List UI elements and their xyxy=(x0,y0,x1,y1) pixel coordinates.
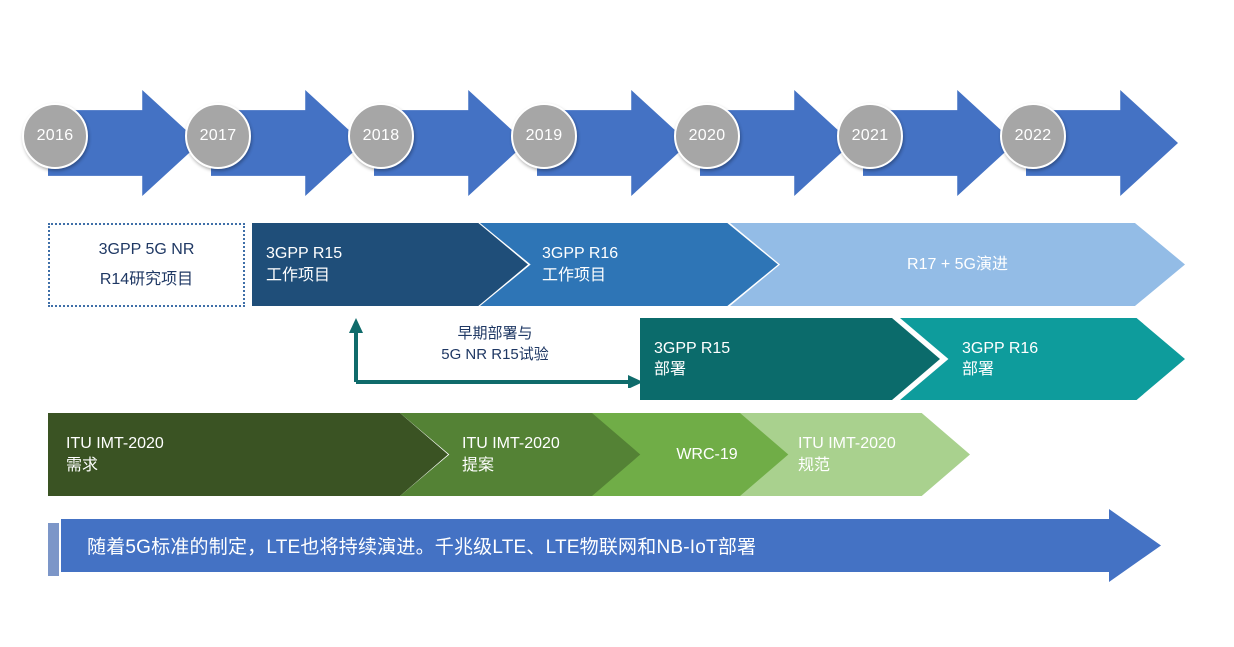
segment-label: ITU IMT-2020 提案 xyxy=(462,433,560,475)
banner-left-tab xyxy=(48,523,59,576)
segment-label: 3GPP R15 工作项目 xyxy=(266,243,342,285)
segment-3gpp-r15-work-item: 3GPP R15 工作项目 xyxy=(252,223,528,306)
year-badge: 2016 xyxy=(22,103,88,169)
year-arrow-2019: 2019 xyxy=(537,90,689,196)
segment-itu-requirements: ITU IMT-2020 需求 xyxy=(48,413,448,496)
year-arrow-2017: 2017 xyxy=(211,90,363,196)
segment-label: ITU IMT-2020 需求 xyxy=(66,433,164,475)
year-arrow-2018: 2018 xyxy=(374,90,526,196)
study-item-line1: 3GPP 5G NR xyxy=(99,235,195,265)
banner-body: 随着5G标准的制定，LTE也将持续演进。千兆级LTE、LTE物联网和NB-IoT… xyxy=(61,519,1111,572)
segment-label: 3GPP R15 部署 xyxy=(654,338,730,380)
segment-label: 3GPP R16 部署 xyxy=(962,338,1038,380)
early-deployment-callout-label: 早期部署与 5G NR R15试验 xyxy=(390,324,600,365)
year-arrow-2021: 2021 xyxy=(863,90,1015,196)
year-badge: 2018 xyxy=(348,103,414,169)
segment-label: ITU IMT-2020 规范 xyxy=(798,433,896,475)
banner-text: 随着5G标准的制定，LTE也将持续演进。千兆级LTE、LTE物联网和NB-IoT… xyxy=(87,532,756,559)
segment-label: 3GPP R16 工作项目 xyxy=(542,243,618,285)
year-arrow-2016: 2016 xyxy=(48,90,200,196)
timeline-diagram: 2016 2017 2018 2019 2020 2021 xyxy=(0,0,1234,647)
year-badge: 2021 xyxy=(837,103,903,169)
year-arrow-2022: 2022 xyxy=(1026,90,1178,196)
year-badge: 2019 xyxy=(511,103,577,169)
callout-arrow-up-head xyxy=(349,318,363,333)
segment-3gpp-r15-deployment: 3GPP R15 部署 xyxy=(640,318,940,400)
segment-3gpp-r16-deployment: 3GPP R16 部署 xyxy=(900,318,1185,400)
year-badge: 2017 xyxy=(185,103,251,169)
study-item-line2: R14研究项目 xyxy=(100,265,193,295)
year-badge: 2020 xyxy=(674,103,740,169)
year-arrow-2020: 2020 xyxy=(700,90,852,196)
segment-label: R17 + 5G演进 xyxy=(907,254,1008,275)
segment-label: WRC-19 xyxy=(676,444,737,465)
segment-r17-5g-evolution: R17 + 5G演进 xyxy=(730,223,1185,306)
study-item-box: 3GPP 5G NR R14研究项目 xyxy=(48,223,245,307)
year-badge: 2022 xyxy=(1000,103,1066,169)
